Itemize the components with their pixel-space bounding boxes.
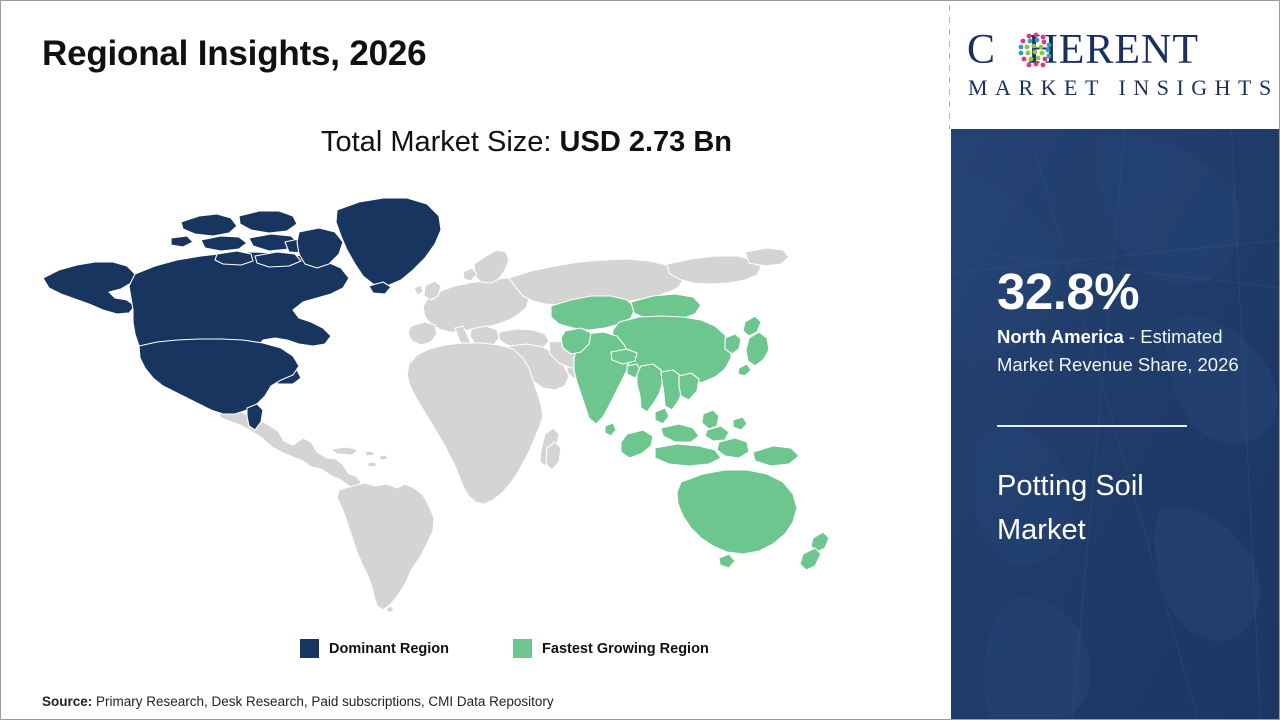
legend-label-fastest-growing: Fastest Growing Region [542,641,709,657]
total-market-size-value: USD 2.73 Bn [560,126,732,158]
world-map [31,186,841,616]
globe-dots-icon [1015,30,1056,71]
stat-value: 32.8% [997,266,1139,317]
source-text: Primary Research, Desk Research, Paid su… [92,694,553,709]
page-title: Regional Insights, 2026 [42,34,426,74]
panel-divider [997,425,1187,427]
vertical-divider [949,5,950,129]
coherent-market-insights-logo: COHERENT [959,19,1271,111]
logo-wordmark-prefix: C [967,27,996,73]
total-market-size: Total Market Size: USD 2.73 Bn [321,126,732,159]
legend-item-fastest-growing: Fastest Growing Region [513,639,709,658]
legend-label-dominant: Dominant Region [329,641,449,657]
stat-region: North America [997,326,1124,347]
map-region-other [219,248,789,613]
market-name: Potting Soil Market [997,464,1237,552]
regional-insights-slide: Regional Insights, 2026 Total Market Siz… [0,0,1280,720]
stat-caption: North America - Estimated Market Revenue… [997,323,1262,379]
map-legend: Dominant Region Fastest Growing Region [300,639,709,658]
logo-subtitle: MARKET INSIGHTS [968,75,1279,101]
total-market-size-label: Total Market Size: [321,126,560,158]
highlight-panel-content: 32.8% North America - Estimated Market R… [997,129,1247,720]
map-region-fastest-growing [551,294,829,570]
highlight-panel: 32.8% North America - Estimated Market R… [951,129,1280,720]
map-region-dominant [43,198,441,430]
logo-wordmark: COHERENT [967,26,1199,74]
legend-swatch-dominant [300,639,319,658]
legend-swatch-fastest-growing [513,639,532,658]
source-note: Source: Primary Research, Desk Research,… [42,694,554,709]
source-label: Source: [42,694,92,709]
legend-item-dominant: Dominant Region [300,639,449,658]
